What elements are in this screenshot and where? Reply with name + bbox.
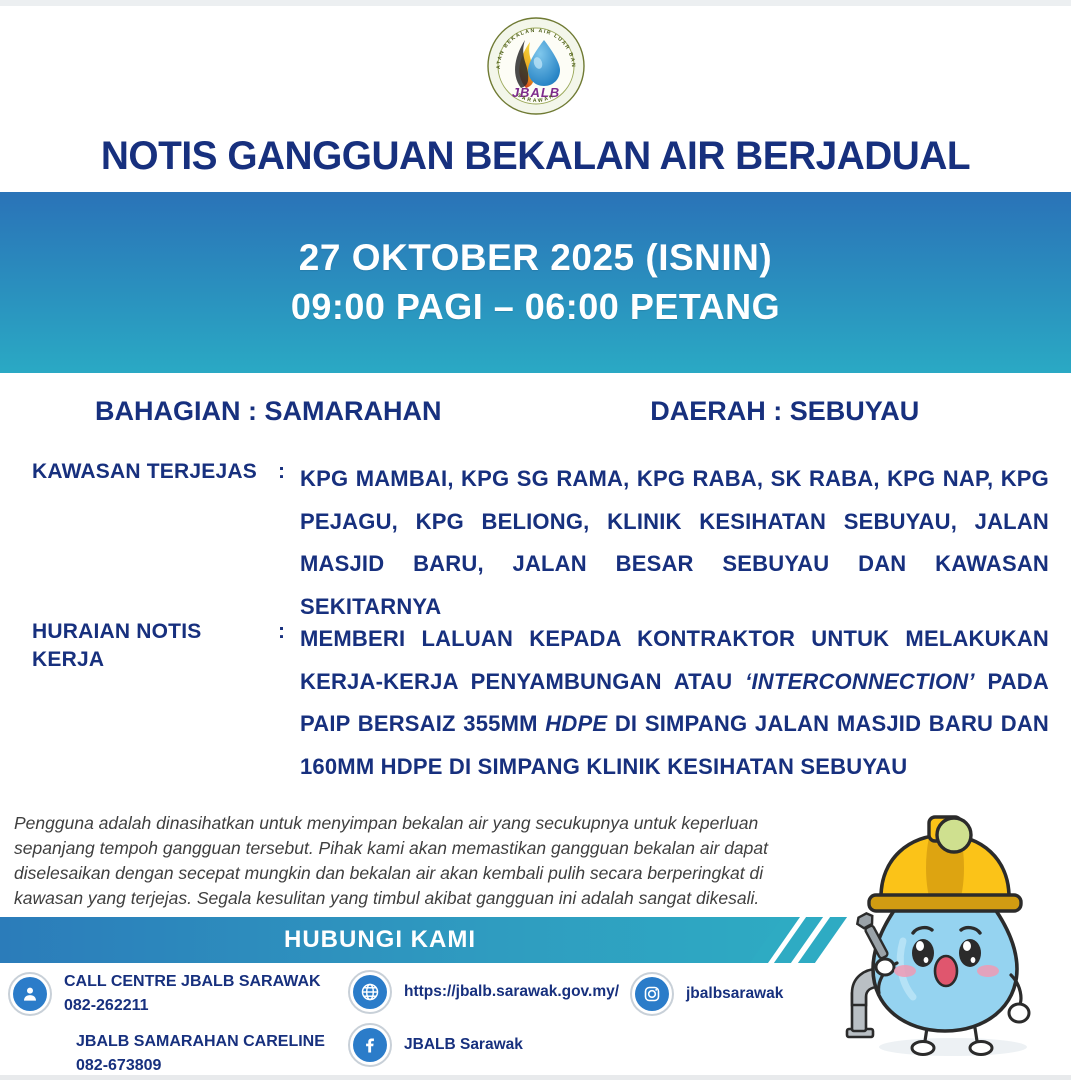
contact-banner-title: HUBUNGI KAMI bbox=[284, 926, 476, 954]
affected-areas-colon: : bbox=[278, 458, 300, 486]
page-title: NOTIS GANGGUAN BEKALAN AIR BERJADUAL bbox=[16, 134, 1055, 179]
careline-text: JBALB SAMARAHAN CARELINE 082-673809 bbox=[76, 1030, 325, 1078]
work-description-label: HURAIAN NOTIS KERJA bbox=[0, 618, 278, 675]
contact-banner: HUBUNGI KAMI bbox=[0, 917, 800, 963]
affected-areas-block: KAWASAN TERJEJAS : KPG MAMBAI, KPG SG RA… bbox=[0, 458, 1071, 629]
call-centre-number: 082-262211 bbox=[64, 994, 321, 1018]
affected-areas-label: KAWASAN TERJEJAS bbox=[0, 458, 278, 486]
division-label: BAHAGIAN : SAMARAHAN bbox=[0, 396, 527, 427]
contact-call-centre[interactable]: CALL CENTRE JBALB SARAWAK 082-262211 bbox=[8, 970, 321, 1018]
water-drop-worker-mascot bbox=[825, 791, 1065, 1067]
jbalb-logo-icon: JBALB JABATAN BEKALAN AIR LUAR BANDAR SA… bbox=[486, 16, 586, 116]
website-url: https://jbalb.sarawak.gov.my/ bbox=[404, 980, 619, 1003]
contact-website[interactable]: https://jbalb.sarawak.gov.my/ bbox=[348, 970, 619, 1014]
logo-container: JBALB JABATAN BEKALAN AIR LUAR BANDAR SA… bbox=[0, 16, 1071, 121]
affected-areas-value: KPG MAMBAI, KPG SG RAMA, KPG RABA, SK RA… bbox=[300, 458, 1071, 629]
facebook-icon bbox=[348, 1023, 392, 1067]
region-row: BAHAGIAN : SAMARAHAN DAERAH : SEBUYAU bbox=[0, 396, 1071, 427]
work-description-block: HURAIAN NOTIS KERJA : MEMBERI LALUAN KEP… bbox=[0, 618, 1071, 789]
district-label: DAERAH : SEBUYAU bbox=[527, 396, 1071, 427]
instagram-icon bbox=[630, 972, 674, 1016]
careline-number: 082-673809 bbox=[76, 1054, 325, 1078]
contact-list: CALL CENTRE JBALB SARAWAK 082-262211 JBA… bbox=[0, 968, 840, 1080]
work-description-colon: : bbox=[278, 618, 300, 646]
schedule-date: 27 OKTOBER 2025 (ISNIN) bbox=[299, 237, 772, 279]
call-centre-label: CALL CENTRE JBALB SARAWAK bbox=[64, 970, 321, 994]
contact-facebook[interactable]: JBALB Sarawak bbox=[348, 1023, 523, 1067]
instagram-handle: jbalbsarawak bbox=[686, 982, 783, 1005]
schedule-time: 09:00 PAGI – 06:00 PETANG bbox=[291, 286, 780, 328]
careline-label: JBALB SAMARAHAN CARELINE bbox=[76, 1030, 325, 1054]
facebook-handle: JBALB Sarawak bbox=[404, 1033, 523, 1056]
person-icon bbox=[8, 972, 52, 1016]
contact-instagram[interactable]: jbalbsarawak bbox=[630, 972, 783, 1016]
schedule-band: 27 OKTOBER 2025 (ISNIN) 09:00 PAGI – 06:… bbox=[0, 192, 1071, 373]
notice-poster: JBALB JABATAN BEKALAN AIR LUAR BANDAR SA… bbox=[0, 0, 1071, 1080]
contact-careline[interactable]: JBALB SAMARAHAN CARELINE 082-673809 bbox=[64, 1030, 325, 1078]
work-description-value: MEMBERI LALUAN KEPADA KONTRAKTOR UNTUK M… bbox=[300, 618, 1071, 789]
call-centre-text: CALL CENTRE JBALB SARAWAK 082-262211 bbox=[64, 970, 321, 1018]
globe-icon bbox=[348, 970, 392, 1014]
advisory-text: Pengguna adalah dinasihatkan untuk menyi… bbox=[14, 811, 789, 910]
